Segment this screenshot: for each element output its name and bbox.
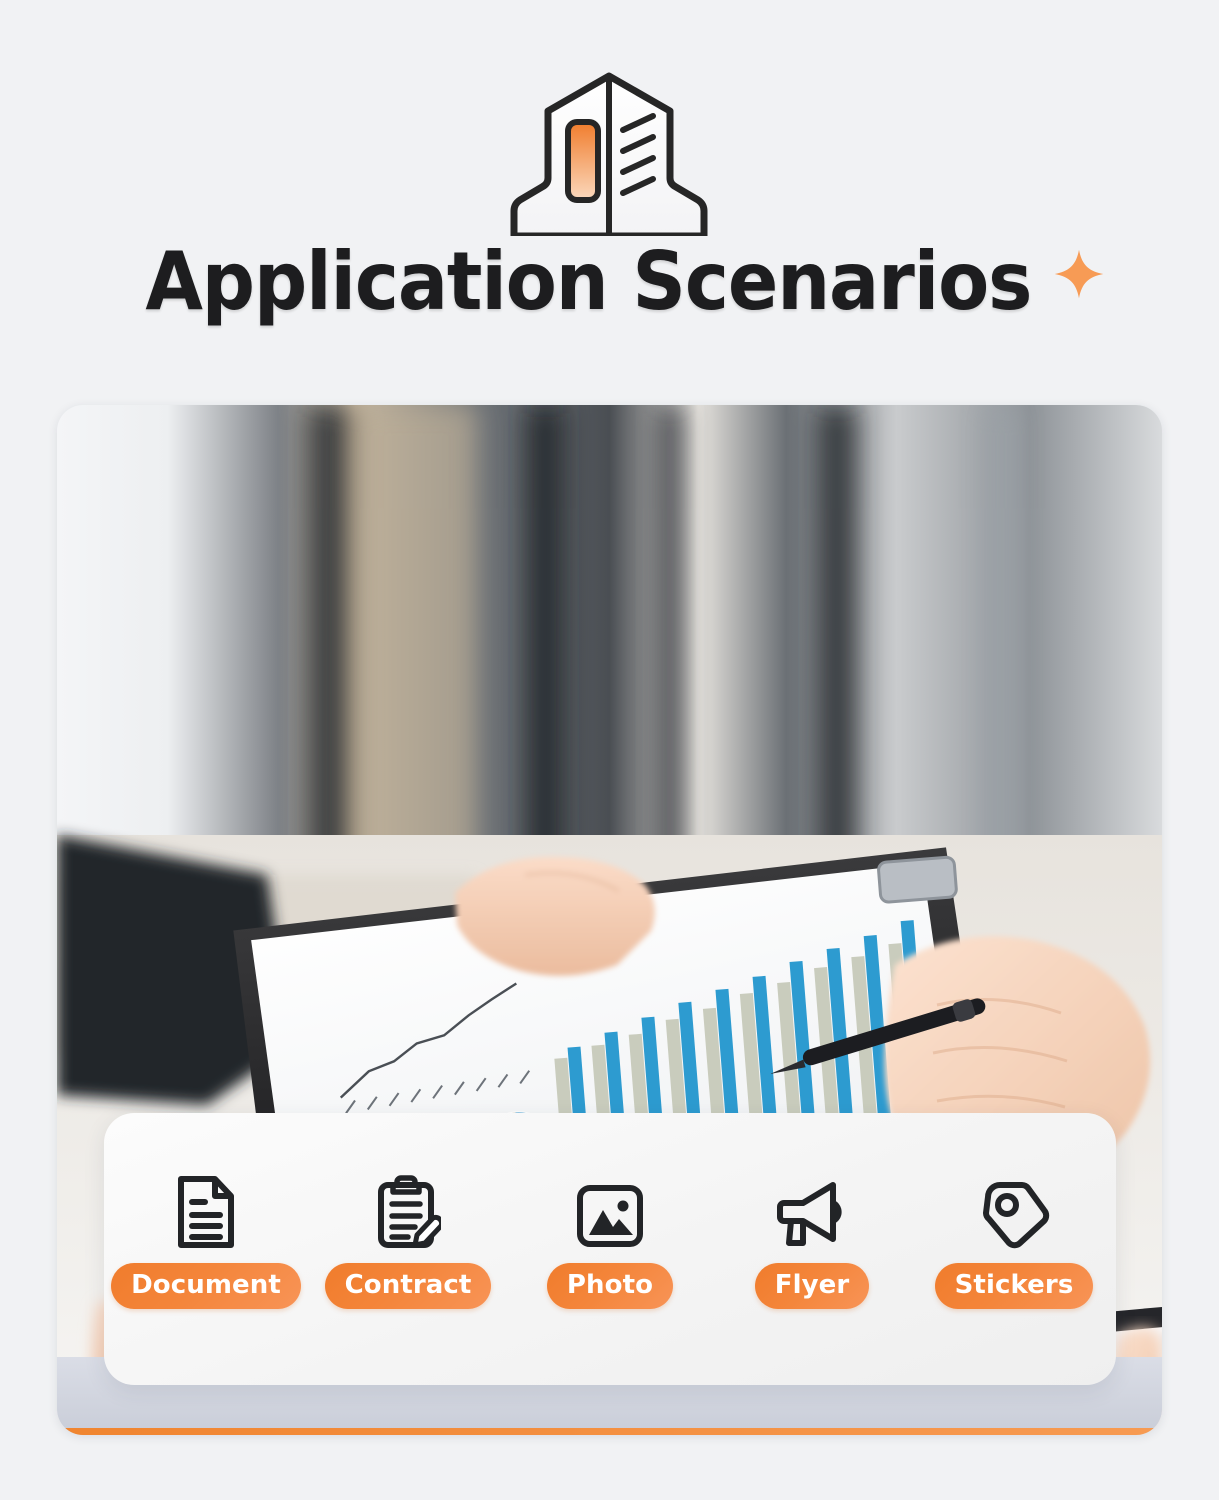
scenario-chip-flyer[interactable]: Flyer [730,1169,894,1309]
document-icon [175,1169,237,1249]
scenario-chip-contract-label: Contract [325,1263,492,1309]
scenario-chip-row: Document Contract [124,1169,1096,1309]
title-row: Application Scenarios [112,240,1107,324]
scenario-chip-stickers-label: Stickers [935,1263,1094,1309]
clipboard-pencil-icon [375,1169,441,1249]
sparkle-icon [1051,246,1107,302]
scenario-chip-stickers[interactable]: Stickers [932,1169,1096,1309]
price-tag-icon [978,1169,1050,1249]
scenario-chip-panel: Document Contract [104,1113,1116,1385]
scenario-chip-contract[interactable]: Contract [326,1169,490,1309]
scenario-chip-photo[interactable]: Photo [528,1169,692,1309]
scenario-chip-flyer-label: Flyer [755,1263,870,1309]
page-header: Application Scenarios [0,0,1219,392]
scenario-chip-document[interactable]: Document [124,1169,288,1309]
image-icon [575,1169,645,1249]
scenario-chip-photo-label: Photo [547,1263,673,1309]
page-title: Application Scenarios [146,240,1032,324]
scenario-chip-document-label: Document [111,1263,301,1309]
megaphone-icon [775,1169,849,1249]
office-building-icon [502,66,717,236]
